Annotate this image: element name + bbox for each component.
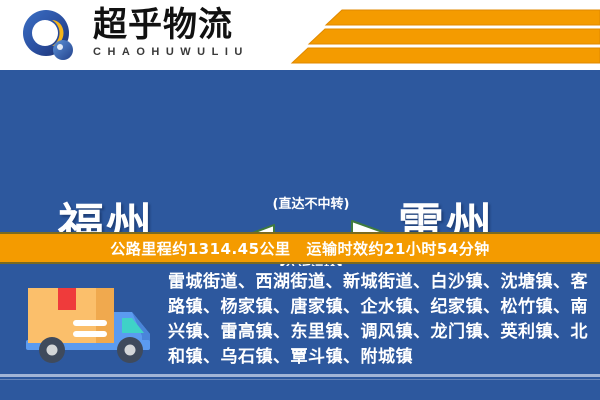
logistics-route-banner: 超乎物流 CHAOHUWULIU 福州 (直达不中转) 【往返运输】 雷州 公路… — [0, 0, 600, 400]
road-line-shadow — [0, 379, 600, 380]
brand-name-en: CHAOHUWULIU — [93, 46, 249, 58]
coverage-areas-text: 雷城街道、西湖街道、新城街道、白沙镇、沈塘镇、客路镇、杨家镇、唐家镇、企水镇、纪… — [168, 270, 588, 370]
route-info-bar: 公路里程约1314.45公里运输时效约21小时54分钟 — [0, 232, 600, 264]
delivery-truck-icon — [18, 278, 164, 370]
brand-header: 超乎物流 CHAOHUWULIU — [0, 0, 600, 70]
route-hero: 福州 (直达不中转) 【往返运输】 雷州 — [0, 70, 600, 228]
coverage-section: 雷城街道、西湖街道、新城街道、白沙镇、沈塘镇、客路镇、杨家镇、唐家镇、企水镇、纪… — [0, 266, 600, 400]
brand-name-cn: 超乎物流 — [93, 6, 249, 44]
circle-crescent-logo-icon — [22, 9, 78, 63]
direct-shipping-note: (直达不中转) — [236, 193, 386, 212]
orange-speed-stripes-icon — [290, 8, 600, 66]
road-line — [0, 374, 600, 377]
brand-text-block: 超乎物流 CHAOHUWULIU — [93, 6, 249, 58]
duration-text: 运输时效约21小时54分钟 — [307, 240, 490, 258]
info-bar-content: 公路里程约1314.45公里运输时效约21小时54分钟 — [110, 238, 490, 259]
distance-text: 公路里程约1314.45公里 — [110, 240, 290, 258]
